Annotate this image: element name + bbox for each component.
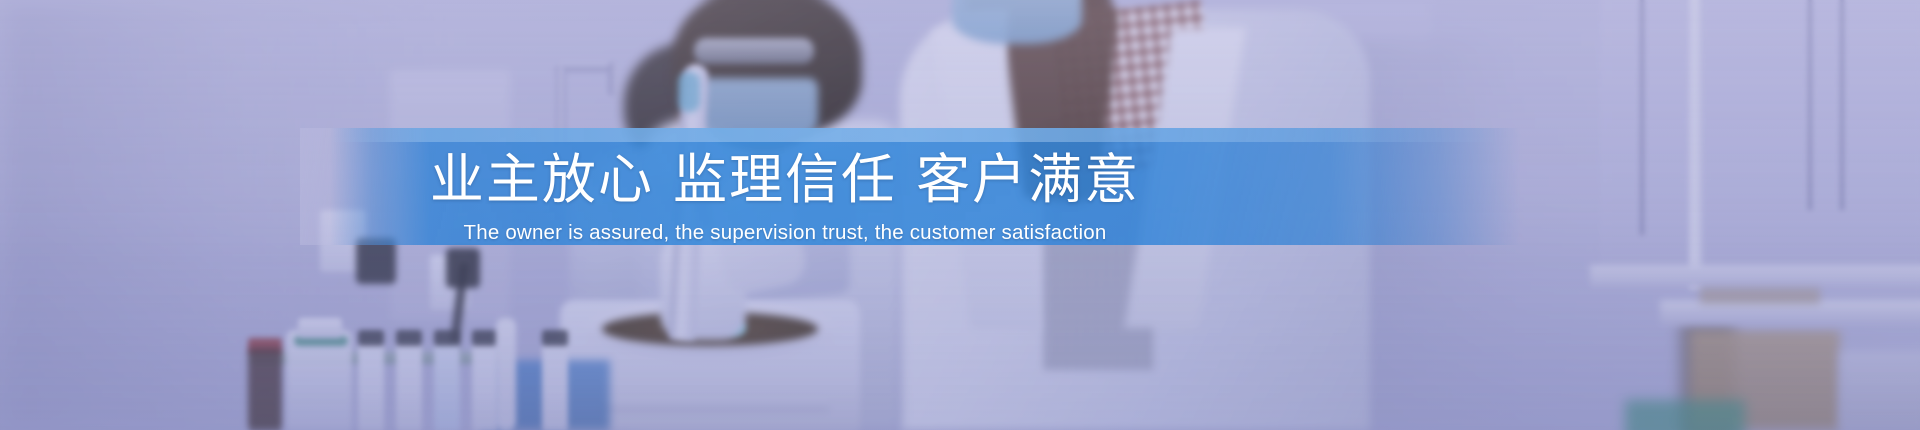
hero-banner: 业主放心 监理信任 客户满意 The owner is assured, the…	[0, 0, 1920, 430]
blue-band-top-highlight	[0, 128, 1920, 142]
blue-band-overlay	[0, 128, 1920, 245]
